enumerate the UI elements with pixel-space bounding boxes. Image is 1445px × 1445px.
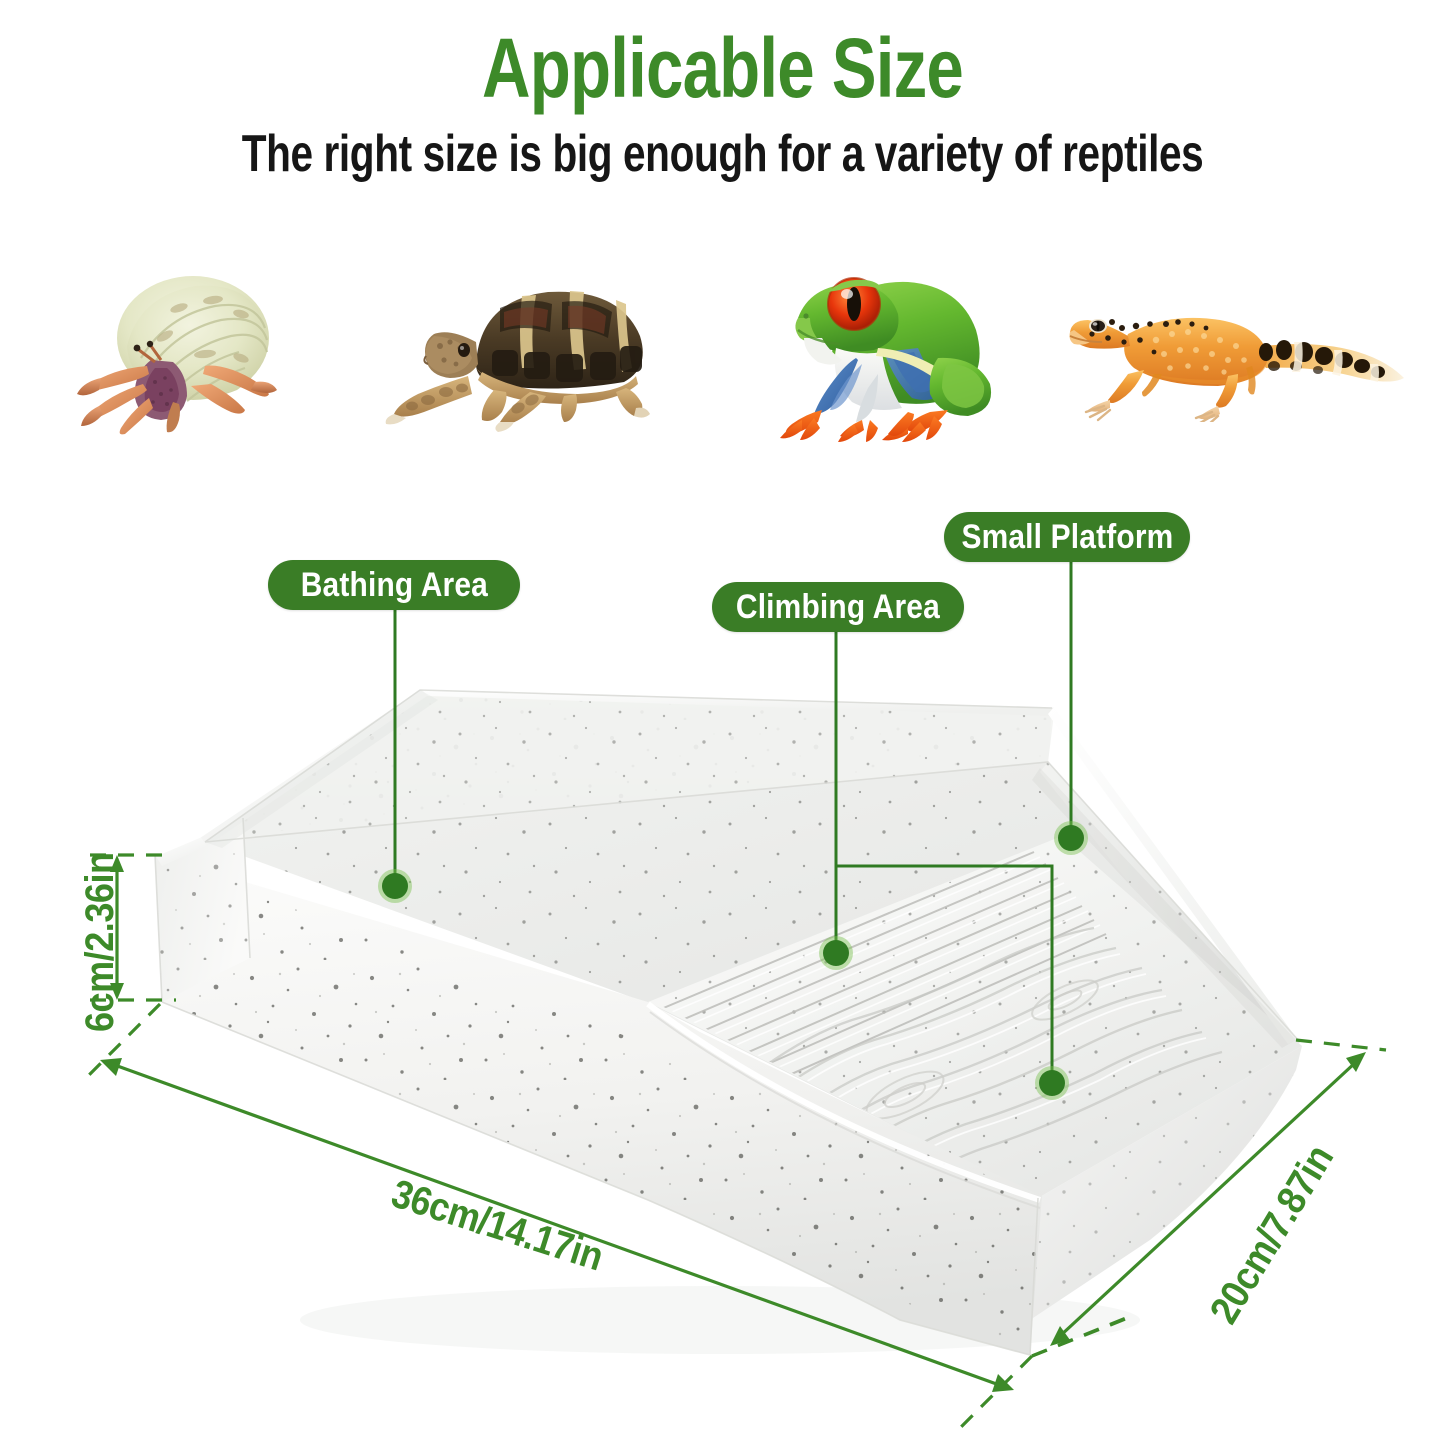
animal-leopard-gecko <box>1052 282 1412 422</box>
dot-halo-bathing <box>378 869 412 903</box>
dimension-label-depth: 20cm/7.87in <box>1196 1128 1349 1341</box>
callout-label-platform: Small Platform <box>961 518 1173 557</box>
animal-tree-frog <box>762 252 1012 442</box>
page-subtitle: The right size is big enough for a varie… <box>159 124 1286 184</box>
dot-platform-bottom <box>1039 1070 1065 1096</box>
dot-halo-platform-top <box>1054 821 1088 855</box>
page-title: Applicable Size <box>145 22 1301 114</box>
dot-climbing <box>823 940 849 966</box>
infographic-canvas: Applicable Size The right size is big en… <box>0 0 1445 1445</box>
callout-dots <box>378 821 1088 1100</box>
dimension-label-height: 6cm/2.36in <box>78 842 123 1042</box>
animal-tortoise <box>372 272 657 432</box>
product-illustration <box>0 0 1445 1445</box>
callout-leaders <box>395 562 1071 1078</box>
callout-label-bathing: Bathing Area <box>300 566 487 605</box>
dot-bathing <box>382 873 408 899</box>
dimension-lines <box>86 855 1386 1428</box>
callout-badge-platform[interactable]: Small Platform <box>944 512 1190 562</box>
callout-badge-bathing[interactable]: Bathing Area <box>268 560 520 610</box>
dot-halo-platform-bottom <box>1035 1066 1069 1100</box>
leader-platform-elbow <box>836 866 1052 1078</box>
dimension-label-width: 36cm/14.17in <box>374 1168 619 1284</box>
dot-platform-top <box>1058 825 1084 851</box>
animal-hermit-crab <box>55 262 310 437</box>
callout-label-climbing: Climbing Area <box>736 588 940 627</box>
callout-badge-climbing[interactable]: Climbing Area <box>712 582 964 632</box>
dot-halo-climbing <box>819 936 853 970</box>
